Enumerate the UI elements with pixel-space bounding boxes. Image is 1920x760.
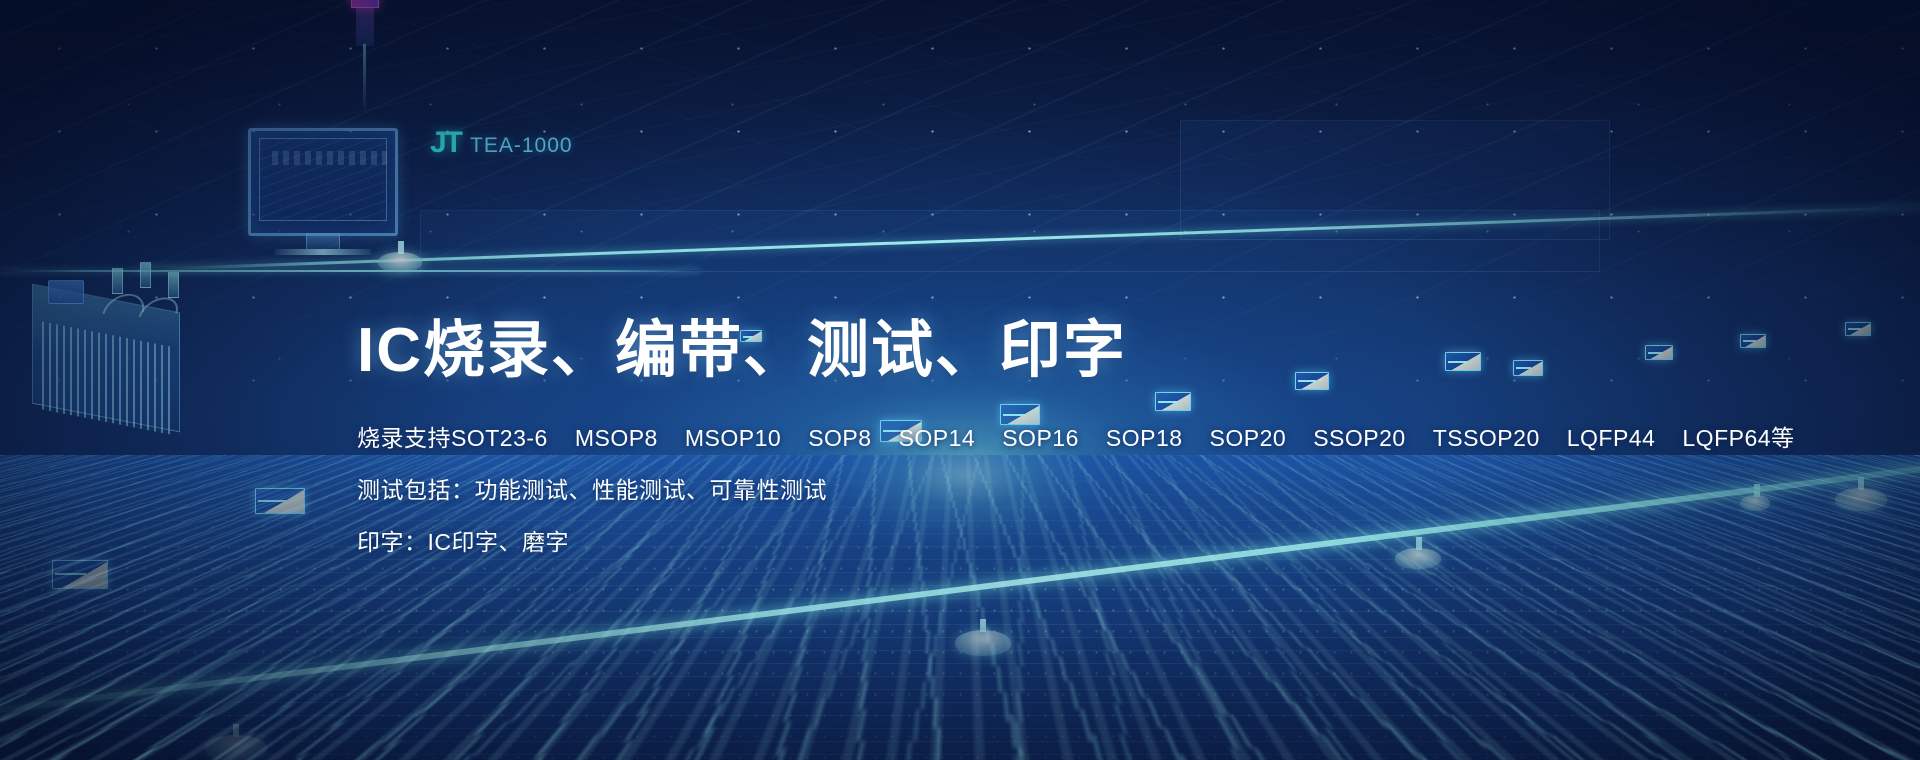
floor-pedestal-4 — [1835, 488, 1887, 511]
page-title: IC烧录、编带、测试、印字 — [357, 318, 1607, 385]
overhead-fixture — [356, 0, 374, 46]
ic-service-hero-banner: JT TEA-1000 IC烧录、编带、测试、印字 烧录支持SOT23-6MSO… — [0, 0, 1920, 760]
package-type-8: TSSOP20 — [1433, 425, 1540, 451]
package-type-6: SOP20 — [1210, 425, 1287, 451]
brand-mark: JT — [430, 126, 461, 160]
equipment-brand-logo: JT TEA-1000 — [430, 126, 573, 160]
floor-pedestal-1 — [378, 252, 422, 272]
package-type-0: MSOP8 — [575, 425, 658, 451]
package-type-5: SOP18 — [1106, 425, 1183, 451]
monitor-stand — [306, 233, 340, 249]
floor-pedestal-2 — [955, 630, 1011, 656]
pick-nozzle-3 — [168, 272, 179, 298]
package-type-3: SOP14 — [899, 425, 976, 451]
chip-marker-1 — [255, 488, 305, 514]
monitor-screen — [259, 138, 387, 221]
package-type-9: LQFP44 — [1567, 425, 1656, 451]
chip-marker-9 — [1645, 345, 1673, 360]
package-type-1: MSOP10 — [685, 425, 781, 451]
test-scope-line: 测试包括：功能测试、性能测试、可靠性测试 — [357, 471, 1607, 505]
workstation-monitor-icon — [248, 128, 398, 236]
package-type-10: LQFP64等 — [1682, 425, 1794, 451]
package-type-4: SOP16 — [1002, 425, 1079, 451]
pick-nozzle-1 — [112, 268, 123, 294]
package-list: MSOP8MSOP10SOP8SOP14SOP16SOP18SOP20SSOP2… — [575, 425, 1795, 451]
burn-support-line: 烧录支持SOT23-6MSOP8MSOP10SOP8SOP14SOP16SOP1… — [357, 419, 1607, 453]
chip-marker-10 — [1740, 334, 1766, 348]
machine-cap — [48, 280, 84, 304]
hero-text-block: IC烧录、编带、测试、印字 烧录支持SOT23-6MSOP8MSOP10SOP8… — [357, 318, 1607, 557]
wall-panel-right — [1180, 120, 1610, 240]
fixture-rod — [363, 44, 366, 114]
chip-marker-2 — [52, 560, 108, 589]
pick-nozzle-2 — [140, 262, 151, 288]
floor-pedestal-6 — [1740, 495, 1770, 511]
monitor-base — [275, 249, 371, 255]
package-type-7: SSOP20 — [1313, 425, 1406, 451]
burn-support-prefix: 烧录支持SOT23-6 — [357, 425, 548, 451]
floor-pedestal-5 — [205, 735, 267, 760]
marking-scope-line: 印字：IC印字、磨字 — [357, 523, 1607, 557]
package-type-2: SOP8 — [808, 425, 871, 451]
horizon-rail-left — [0, 270, 700, 272]
magenta-led-icon — [351, 0, 379, 8]
chip-marker-11 — [1845, 322, 1871, 336]
brand-model-label: TEA-1000 — [470, 134, 573, 158]
